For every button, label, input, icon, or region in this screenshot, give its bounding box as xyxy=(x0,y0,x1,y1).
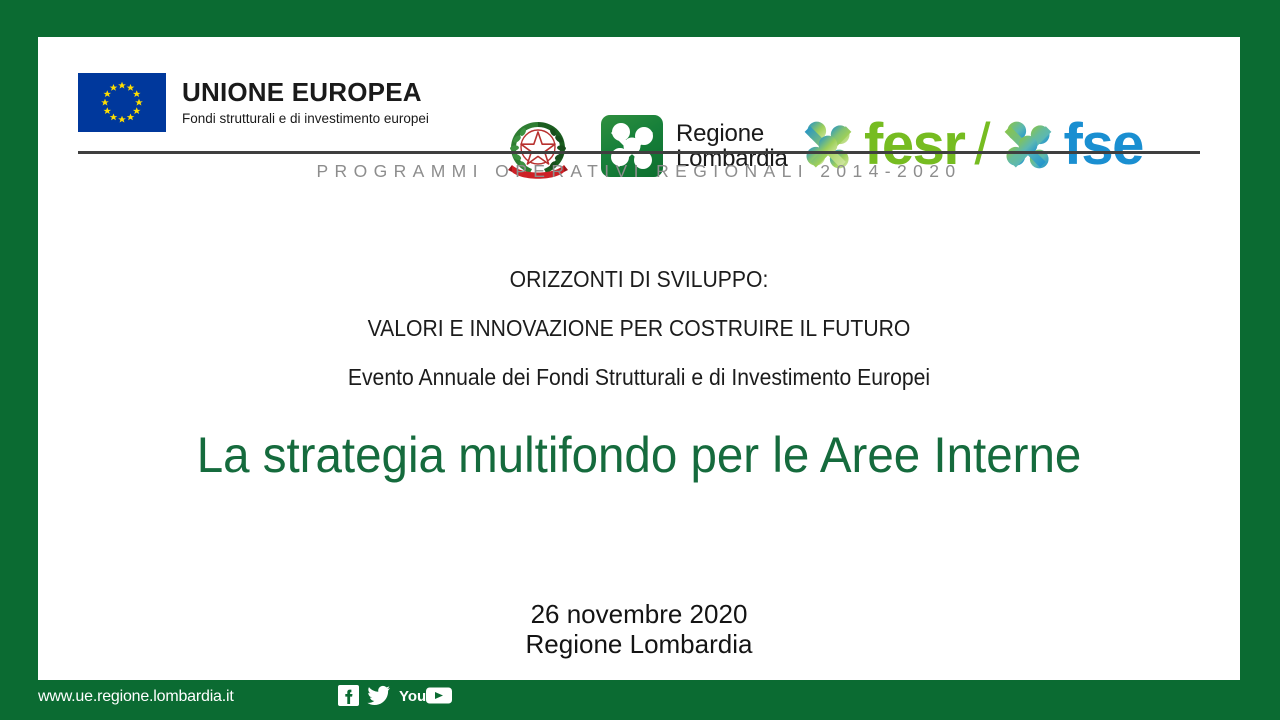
eu-logo: UNIONE EUROPEA Fondi strutturali e di in… xyxy=(78,73,429,132)
facebook-icon[interactable] xyxy=(338,685,359,706)
programme-line: PROGRAMMI OPERATIVI REGIONALI 2014-2020 xyxy=(38,161,1240,182)
social-links: You xyxy=(338,685,453,706)
svg-text:You: You xyxy=(399,688,426,705)
eu-logo-subtitle: Fondi strutturali e di investimento euro… xyxy=(182,112,429,126)
page-title: La strategia multifondo per le Aree Inte… xyxy=(68,425,1210,485)
event-meta: 26 novembre 2020 Regione Lombardia xyxy=(38,599,1240,659)
subtitle-line-3: Evento Annuale dei Fondi Strutturali e d… xyxy=(86,353,1192,402)
content-panel: UNIONE EUROPEA Fondi strutturali e di in… xyxy=(38,37,1240,680)
event-place: Regione Lombardia xyxy=(38,629,1240,659)
header-divider xyxy=(78,151,1200,154)
slide-root: UNIONE EUROPEA Fondi strutturali e di in… xyxy=(0,0,1280,720)
footer-bar: www.ue.regione.lombardia.it You xyxy=(0,680,1280,720)
regione-lombardia-line1: Regione xyxy=(676,121,788,146)
subtitle-line-2: VALORI E INNOVAZIONE PER COSTRUIRE IL FU… xyxy=(86,304,1192,353)
twitter-icon[interactable] xyxy=(367,685,391,706)
event-date: 26 novembre 2020 xyxy=(38,599,1240,629)
eu-logo-title: UNIONE EUROPEA xyxy=(182,79,429,105)
youtube-icon[interactable]: You xyxy=(399,685,453,706)
logo-bar: UNIONE EUROPEA Fondi strutturali e di in… xyxy=(38,37,1240,149)
eu-flag-icon xyxy=(78,73,166,132)
footer-website-link[interactable]: www.ue.regione.lombardia.it xyxy=(38,688,234,706)
eu-logo-text: UNIONE EUROPEA Fondi strutturali e di in… xyxy=(182,79,429,126)
subtitle-line-1: ORIZZONTI DI SVILUPPO: xyxy=(86,255,1192,304)
subtitle-block: ORIZZONTI DI SVILUPPO: VALORI E INNOVAZI… xyxy=(38,255,1240,402)
